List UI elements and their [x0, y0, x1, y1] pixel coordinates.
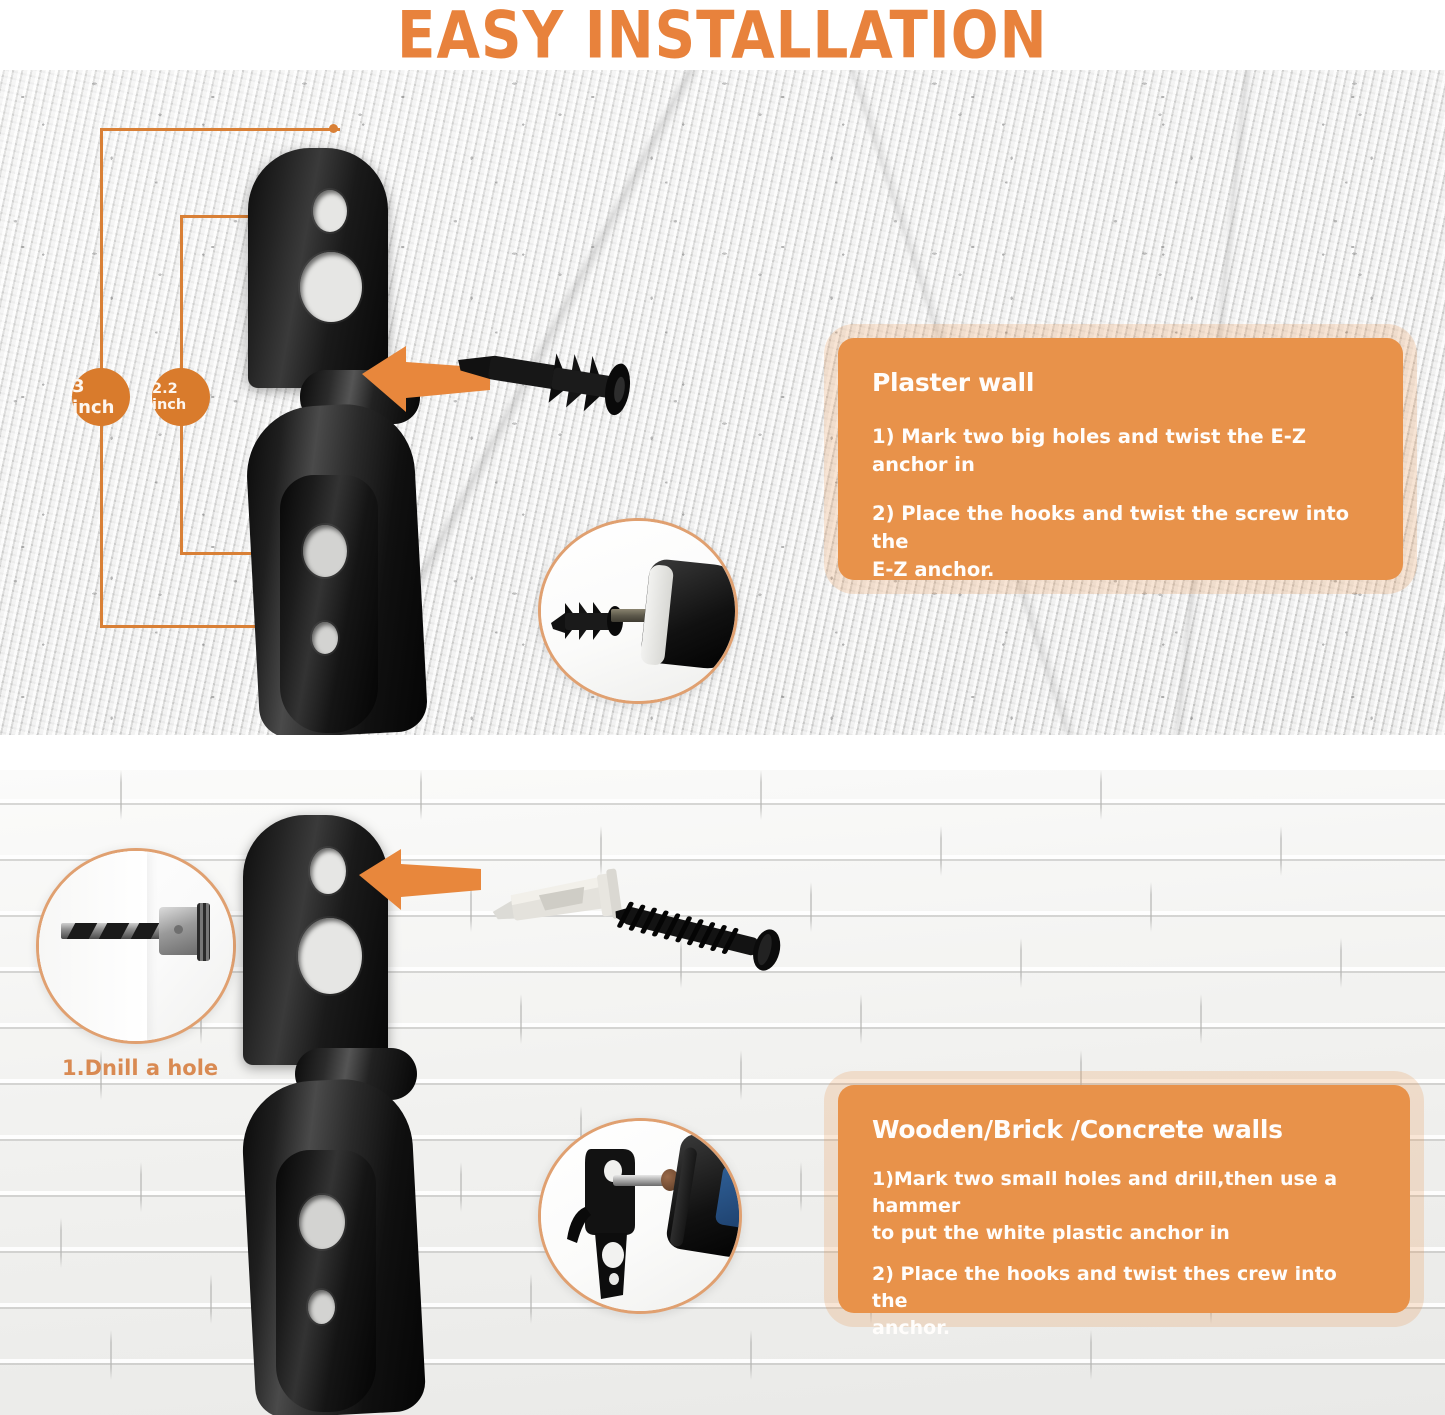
hook-lower-plate — [276, 1150, 376, 1412]
large-mount-hole — [300, 252, 362, 322]
instruction-card-brick-step-2: 2) Place the hooks and twist thes crew i… — [872, 1261, 1376, 1342]
small-mount-hole — [310, 848, 346, 894]
instruction-card-brick-title: Wooden/Brick /Concrete walls — [872, 1115, 1376, 1144]
drill-chuck-ring — [197, 903, 210, 961]
instruction-card-plaster-step-1: 1) Mark two big holes and twist the E-Z … — [872, 423, 1369, 478]
dimension-badge-2-2inch-label: 2.2 inch — [152, 381, 210, 413]
hook-lower-small-hole — [312, 622, 338, 654]
screw-icon — [608, 898, 788, 974]
page-header: EASY INSTALLATION — [0, 0, 1445, 70]
chuck-screw-detail — [174, 925, 183, 934]
large-mount-hole — [298, 918, 362, 994]
instruction-card-plaster-step-2: 2) Place the hooks and twist the screw i… — [872, 500, 1369, 583]
hook-lower-large-hole — [303, 525, 347, 577]
arrow-to-small-hole-icon — [355, 842, 485, 912]
inset-drill-a-hole-label: 1.Dnill a hole — [62, 1056, 218, 1080]
instruction-card-brick-step-1: 1)Mark two small holes and drill,then us… — [872, 1166, 1376, 1247]
inset-driver-twisting-anchor — [538, 518, 738, 704]
ez-anchor-icon — [452, 345, 652, 417]
instruction-card-plaster-wall: Plaster wall 1) Mark two big holes and t… — [838, 338, 1403, 580]
inset-drill-a-hole — [36, 848, 236, 1044]
hook-lower-plate — [280, 475, 378, 733]
leader-line-3inch-top — [100, 128, 340, 131]
dimension-badge-3inch: 3 inch — [72, 368, 130, 426]
instruction-card-brick-wall: Wooden/Brick /Concrete walls 1)Mark two … — [838, 1085, 1410, 1313]
hook-bracket-small-icon — [561, 1147, 653, 1307]
dim-dot-top-hole — [329, 124, 338, 133]
small-mount-hole — [313, 190, 347, 232]
section-brick-wall: 1.Dnill a hole — [0, 770, 1445, 1415]
hook-lower-large-hole — [299, 1195, 345, 1249]
section-plaster-wall: 3 inch 2.2 inch — [0, 70, 1445, 735]
inset-drill-driving-screw — [538, 1118, 742, 1314]
page-title: EASY INSTALLATION — [397, 3, 1047, 68]
instruction-card-plaster-title: Plaster wall — [872, 368, 1369, 397]
inset-wall-face — [39, 851, 147, 1041]
hook-lower-small-hole — [308, 1290, 335, 1324]
dimension-badge-3inch-label: 3 inch — [72, 376, 130, 418]
dimension-badge-2-2inch: 2.2 inch — [152, 368, 210, 426]
